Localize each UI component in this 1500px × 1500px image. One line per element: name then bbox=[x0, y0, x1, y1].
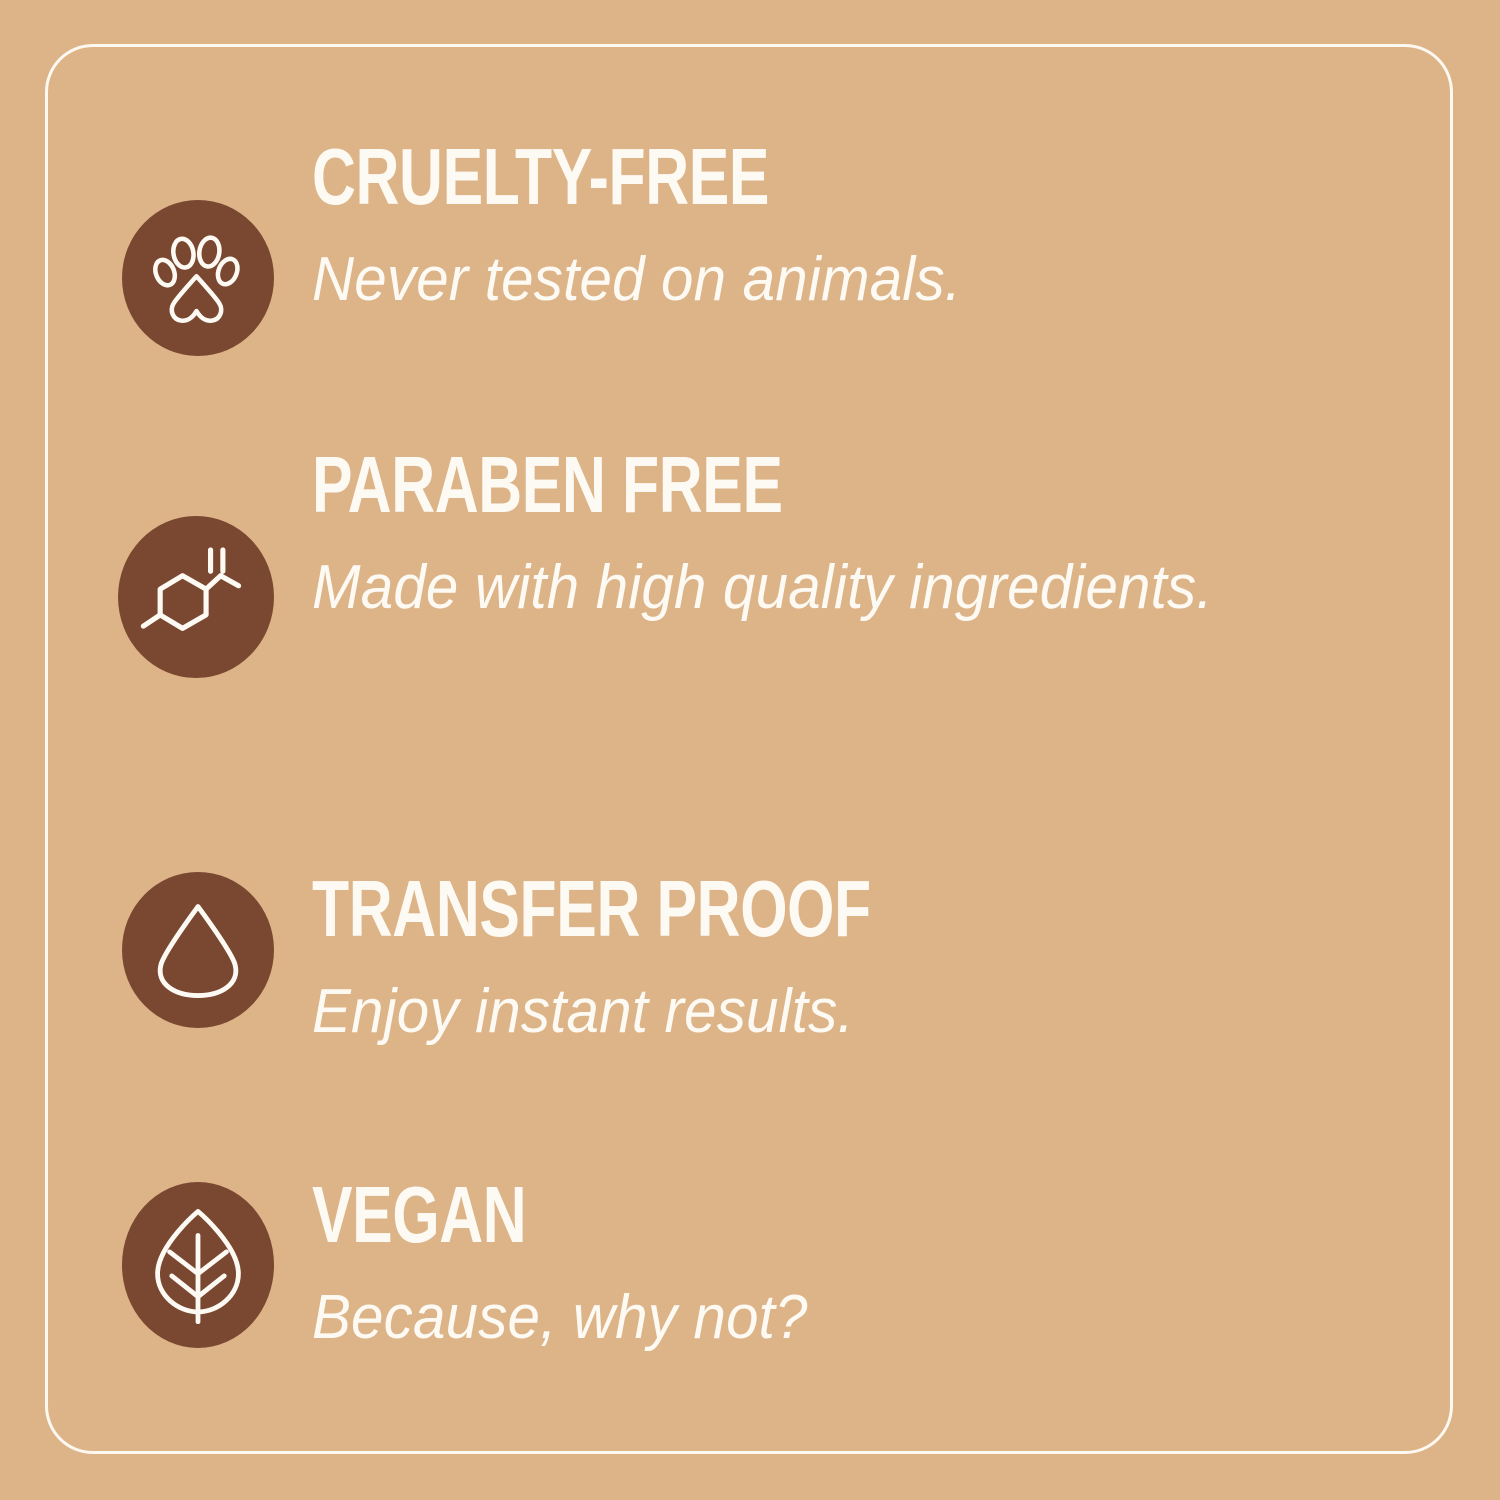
feature-title: TRANSFER PROOF bbox=[312, 872, 1133, 946]
feature-title: CRUELTY-FREE bbox=[312, 140, 1133, 214]
molecule-benzene-icon bbox=[118, 516, 274, 678]
paw-print-icon bbox=[122, 200, 274, 356]
feature-subtitle: Because, why not? bbox=[312, 1274, 1327, 1362]
leaf-icon bbox=[122, 1182, 274, 1348]
water-droplet-icon bbox=[122, 872, 274, 1028]
feature-subtitle: Never tested on animals. bbox=[312, 236, 1327, 324]
feature-title: PARABEN FREE bbox=[312, 448, 1133, 522]
feature-text-paraben-free: PARABEN FREE Made with high quality ingr… bbox=[312, 448, 1392, 632]
feature-title: VEGAN bbox=[312, 1178, 1133, 1252]
product-benefits-card: CRUELTY-FREE Never tested on animals. bbox=[0, 0, 1500, 1500]
feature-text-cruelty-free: CRUELTY-FREE Never tested on animals. bbox=[312, 140, 1392, 324]
feature-text-vegan: VEGAN Because, why not? bbox=[312, 1178, 1392, 1362]
feature-subtitle: Made with high quality ingredients. bbox=[312, 544, 1327, 632]
feature-text-transfer-proof: TRANSFER PROOF Enjoy instant results. bbox=[312, 872, 1392, 1056]
feature-subtitle: Enjoy instant results. bbox=[312, 968, 1327, 1056]
